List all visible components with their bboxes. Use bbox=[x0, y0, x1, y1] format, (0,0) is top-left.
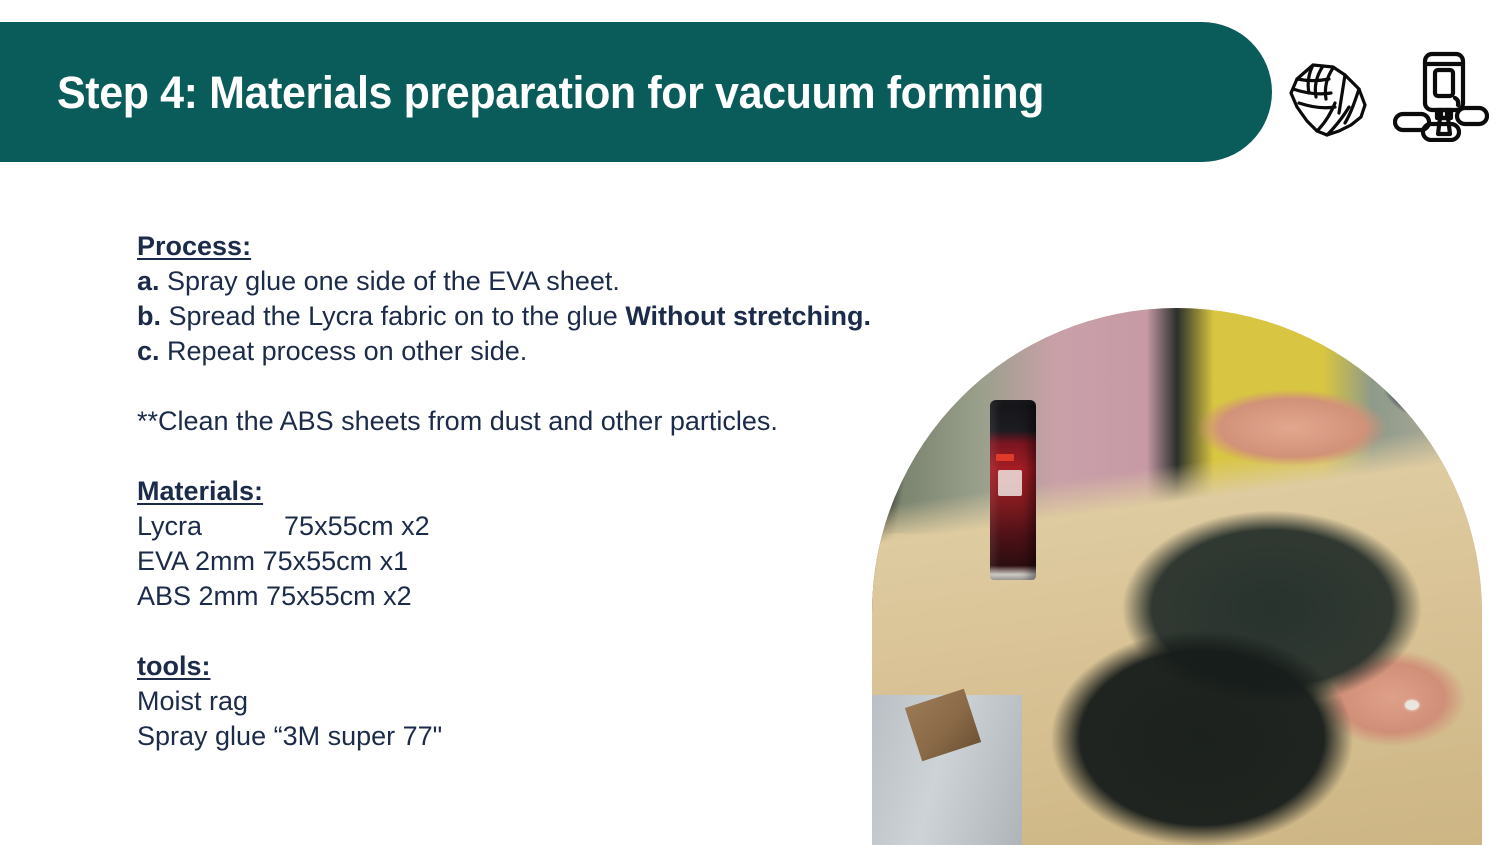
tool-item: Spray glue “3M super 77" bbox=[137, 719, 837, 754]
spacer bbox=[137, 369, 837, 404]
spray-adhesive-can bbox=[990, 400, 1036, 580]
wedding-ring bbox=[1405, 700, 1419, 710]
workshop-photo-image bbox=[872, 308, 1482, 845]
process-step: c. Repeat process on other side. bbox=[137, 334, 837, 369]
step-marker: c. bbox=[137, 336, 160, 366]
spacer bbox=[137, 614, 837, 649]
step-marker: b. bbox=[137, 301, 161, 331]
page-title: Step 4: Materials preparation for vacuum… bbox=[57, 70, 1044, 115]
spacer bbox=[137, 439, 837, 474]
header-banner: Step 4: Materials preparation for vacuum… bbox=[0, 22, 1272, 162]
material-spec: 75x55cm x2 bbox=[284, 511, 430, 541]
tool-item: Moist rag bbox=[137, 684, 837, 719]
material-item: EVA 2mm 75x55cm x1 bbox=[137, 544, 837, 579]
step-text: Spray glue one side of the EVA sheet. bbox=[167, 266, 620, 296]
materials-heading: Materials: bbox=[137, 474, 837, 509]
body-text-block: Process: a. Spray glue one side of the E… bbox=[137, 229, 837, 754]
material-item: ABS 2mm 75x55cm x2 bbox=[137, 579, 837, 614]
process-step: a. Spray glue one side of the EVA sheet. bbox=[137, 264, 837, 299]
step-text: Spread the Lycra fabric on to the glue bbox=[169, 301, 626, 331]
cleaning-note: **Clean the ABS sheets from dust and oth… bbox=[137, 404, 837, 439]
step-emphasis: Without stretching. bbox=[625, 301, 871, 331]
material-spec: 75x55cm x1 bbox=[263, 546, 409, 576]
material-spec: 75x55cm x2 bbox=[266, 581, 412, 611]
material-name: ABS 2mm bbox=[137, 581, 259, 611]
material-name: Lycra bbox=[137, 511, 202, 541]
glue-bottle-icon bbox=[1393, 50, 1489, 142]
header-icon-group bbox=[1283, 46, 1489, 146]
tools-heading: tools: bbox=[137, 649, 837, 684]
slide-root: Step 4: Materials preparation for vacuum… bbox=[0, 0, 1501, 845]
material-name: EVA 2mm bbox=[137, 546, 255, 576]
process-step: b. Spread the Lycra fabric on to the glu… bbox=[137, 299, 837, 334]
material-item: Lycra75x55cm x2 bbox=[137, 509, 837, 544]
hand-wiping-cloth-icon bbox=[1283, 53, 1375, 139]
workshop-photo bbox=[872, 308, 1482, 845]
process-heading: Process: bbox=[137, 229, 837, 264]
step-marker: a. bbox=[137, 266, 160, 296]
step-text: Repeat process on other side. bbox=[167, 336, 527, 366]
